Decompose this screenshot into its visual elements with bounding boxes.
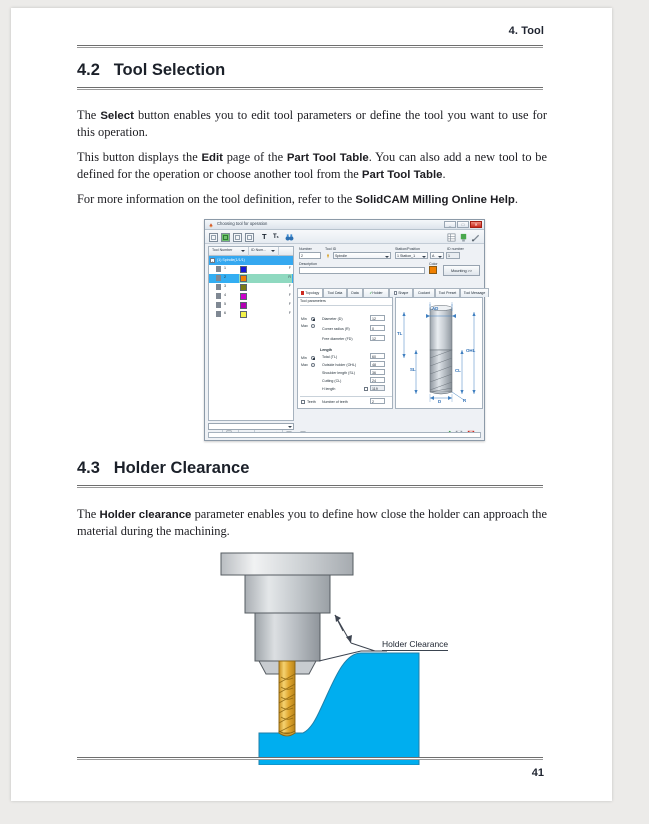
paragraph-4: The Holder clearance parameter enables y… — [77, 507, 547, 539]
row-flag: F — [289, 302, 291, 306]
length-input-h-length[interactable]: 119 — [370, 385, 385, 391]
tool-table-header: Tool Number ID Num... — [209, 247, 293, 256]
paragraph-3: For more information on the tool definit… — [77, 192, 547, 209]
dialog-status-bar — [208, 432, 481, 438]
tab-label: Topology — [305, 291, 319, 295]
application-icon — [208, 222, 214, 228]
text-tool-icon[interactable]: T — [262, 232, 267, 242]
station-value: 1 Station_1 — [397, 254, 415, 258]
tool-icon — [216, 284, 221, 290]
text-run: This button displays the — [77, 150, 201, 164]
param-input-free-diameter[interactable]: 12 — [370, 335, 385, 341]
tool-dimension-diagram: AD TL SL OHL CL D R — [395, 297, 483, 409]
table-row[interactable]: 5 F — [209, 301, 293, 310]
window-buttons: _ □ ✕ — [444, 221, 482, 228]
column-header-tool-number: Tool Number — [212, 248, 232, 252]
diagram-label-SL: SL — [410, 367, 416, 372]
tab-topology[interactable]: Topology — [297, 288, 323, 297]
teeth-input[interactable]: 2 — [370, 398, 385, 404]
row-color-swatch[interactable] — [240, 284, 247, 291]
grid-icon-2[interactable] — [233, 233, 242, 242]
label-tool-id: Tool ID — [325, 247, 336, 251]
tab-shape[interactable]: Shape — [389, 288, 413, 297]
diagram-label-D: D — [438, 399, 441, 404]
tool-id-select[interactable]: Spindle — [333, 252, 391, 259]
row-color-swatch[interactable] — [240, 266, 247, 273]
length-input-outside-holder[interactable]: 48 — [370, 361, 385, 367]
length-input-cutting[interactable]: 24 — [370, 377, 385, 383]
filter-arrow-icon-1[interactable] — [241, 250, 245, 252]
close-icon[interactable]: ✕ — [470, 221, 482, 228]
station-select[interactable]: 1 Station_1 — [395, 252, 428, 259]
tool-selection-dialog-screenshot: Choosing tool for operation _ □ ✕ T Ts — [204, 219, 485, 441]
row-color-swatch[interactable] — [240, 275, 247, 282]
text-run: The — [77, 507, 99, 521]
description-input[interactable] — [299, 267, 425, 274]
station-number-input[interactable]: 1 — [446, 252, 460, 259]
diagram-label-AD: AD — [432, 306, 438, 311]
length-group-title: Length — [320, 348, 332, 352]
tree-expander-icon[interactable]: - — [210, 258, 215, 263]
color-swatch-button[interactable] — [429, 266, 437, 274]
divider — [300, 396, 392, 397]
holder-clearance-figure: Holder Clearance — [211, 543, 481, 765]
row-tool-number: 5 — [224, 302, 226, 306]
tool-icon — [216, 266, 221, 272]
section-title-4-2: 4.2 Tool Selection — [77, 61, 547, 80]
table-row-selected[interactable]: 2 R — [209, 274, 293, 283]
station-sub-value: A — [432, 254, 434, 258]
length-input-total[interactable]: 60 — [370, 353, 385, 359]
min-radio[interactable] — [311, 317, 315, 321]
tab-tool-preset[interactable]: Tool Preset — [435, 288, 460, 297]
wrench-icon[interactable] — [471, 233, 480, 242]
text-bold-online-help: SolidCAM Milling Online Help — [355, 194, 514, 206]
chevron-down-icon[interactable] — [385, 256, 389, 258]
length-label-cutting: Cutting (CL) — [322, 379, 341, 383]
teeth-checkbox-label: Teeth — [307, 400, 316, 404]
grid-icon-1[interactable] — [209, 233, 218, 242]
document-page: 4. Tool 4.2 Tool Selection The Select bu… — [11, 8, 612, 801]
diagram-label-CL: CL — [455, 368, 461, 373]
dialog-title-bar: Choosing tool for operation _ □ ✕ — [205, 220, 484, 230]
row-flag: F — [289, 266, 291, 270]
teeth-label: Number of teeth — [322, 400, 348, 404]
grid-green-icon[interactable] — [221, 233, 230, 242]
tool-icon — [216, 311, 221, 317]
green-tool-icon[interactable] — [459, 233, 468, 242]
max-radio-2[interactable] — [311, 363, 315, 367]
tab-data[interactable]: Data — [347, 288, 363, 297]
max-label-2: Max — [301, 363, 308, 367]
row-tool-number: 1 — [224, 266, 226, 270]
length-label-shoulder: Shoulder length (SL) — [322, 371, 355, 375]
column-divider — [278, 247, 279, 256]
chevron-down-icon[interactable] — [438, 256, 442, 258]
number-input[interactable]: 2 — [299, 252, 321, 259]
table-row[interactable]: 1 F — [209, 265, 293, 274]
row-color-swatch[interactable] — [240, 293, 247, 300]
label-description: Description — [299, 262, 317, 266]
checkbox-icon[interactable] — [394, 291, 398, 295]
tab-holder[interactable]: ✓Holder — [363, 288, 389, 297]
row-tool-number: 3 — [224, 284, 226, 288]
text-run: . — [515, 192, 518, 206]
minimize-icon[interactable]: _ — [444, 221, 456, 228]
row-flag: F — [289, 284, 291, 288]
label-number: Number — [299, 247, 312, 251]
text-bold-holder-clearance: Holder clearance — [99, 509, 191, 521]
text-run: page of the — [223, 150, 287, 164]
length-label-total: Total (TL) — [322, 355, 337, 359]
section-rule — [77, 485, 543, 488]
tool-icon — [216, 275, 221, 281]
teeth-checkbox[interactable] — [301, 400, 305, 404]
min-label: Min — [301, 317, 307, 321]
paragraph-2: This button displays the Edit page of th… — [77, 150, 547, 183]
tool-id-value: Spindle — [335, 254, 347, 258]
param-input-diameter[interactable]: 12 — [370, 315, 385, 321]
chevron-down-icon[interactable] — [422, 256, 426, 258]
page-number: 41 — [532, 767, 544, 779]
row-flag: F — [289, 293, 291, 297]
tab-label: Shape — [398, 291, 408, 295]
running-header: 4. Tool — [509, 25, 544, 37]
text-bold-select: Select — [100, 110, 134, 122]
column-header-id-num: ID Num... — [251, 248, 266, 252]
length-label-h-length: H length — [322, 387, 335, 391]
filter-arrow-icon-2[interactable] — [271, 250, 275, 252]
spindle-icon — [325, 253, 331, 259]
max-radio[interactable] — [311, 324, 315, 328]
text-run: button enables you to edit tool paramete… — [77, 108, 547, 139]
param-label-diameter: Diameter (D) — [322, 317, 343, 321]
text-bold-edit: Edit — [201, 152, 223, 164]
tree-root-label: (1) Spindle(1/1/1) — [217, 258, 245, 262]
min-radio-2[interactable] — [311, 356, 315, 360]
diagram-label-OHL: OHL — [466, 348, 475, 353]
tool-icon — [216, 293, 221, 299]
parameters-group-title: Tool parameters — [300, 299, 326, 303]
column-divider — [248, 247, 249, 256]
diagram-label-R: R — [463, 398, 466, 403]
row-flag: F — [289, 311, 291, 315]
h-length-checkbox[interactable] — [364, 387, 368, 391]
tab-tool-message[interactable]: Tool Message — [460, 288, 489, 297]
diagram-label-TL: TL — [397, 331, 402, 336]
row-tool-number: 4 — [224, 293, 226, 297]
label-id-number: ID number — [447, 247, 464, 251]
endmill-diagram-svg — [396, 298, 484, 410]
dialog-title: Choosing tool for operation — [217, 221, 267, 226]
text-bold-part-tool-table-2: Part Tool Table — [362, 169, 443, 181]
param-label-free-diameter: Free diameter (FD) — [322, 337, 353, 341]
section-heading-4-3: 4.3 Holder Clearance — [77, 459, 547, 488]
length-input-shoulder[interactable]: 36 — [370, 369, 385, 375]
holder-clearance-annotation: Holder Clearance — [382, 639, 448, 651]
footer-rule — [77, 757, 543, 760]
maximize-icon[interactable]: □ — [457, 221, 469, 228]
holder-clearance-svg — [211, 543, 481, 765]
tool-table[interactable]: Tool Number ID Num... - (1) Spindle(1/1/… — [208, 246, 294, 421]
row-tool-number: 6 — [224, 311, 226, 315]
tab-bar: Topology Tool Data Data ✓Holder Shape Co… — [297, 288, 483, 297]
table-row[interactable]: 3 F — [209, 283, 293, 292]
row-tool-number: 2 — [224, 275, 226, 279]
row-color-swatch[interactable] — [240, 311, 247, 318]
length-label-outside-holder: Outside holder (OHL) — [322, 363, 356, 367]
row-color-swatch[interactable] — [240, 302, 247, 309]
text-small-tool-icon[interactable]: Ts — [273, 232, 279, 242]
binoculars-icon[interactable] — [285, 233, 294, 242]
param-label-corner-radius: Corner radius (R) — [322, 327, 350, 331]
table-icon[interactable] — [447, 233, 456, 242]
dialog-toolbar: T Ts — [205, 230, 484, 244]
tab-label: Holder — [372, 291, 382, 295]
table-row[interactable]: 4 F — [209, 292, 293, 301]
tab-tool-data[interactable]: Tool Data — [323, 288, 347, 297]
row-flag: R — [288, 275, 291, 279]
text-bold-part-tool-table: Part Tool Table — [287, 152, 369, 164]
section-heading-4-2: 4.2 Tool Selection — [77, 61, 547, 90]
tool-parameters-panel: Tool parameters Min Max Diameter (D) 12 … — [297, 297, 393, 409]
tab-coolant[interactable]: Coolant — [413, 288, 435, 297]
table-row[interactable]: 6 F — [209, 310, 293, 319]
section-rule — [77, 87, 543, 90]
param-input-corner-radius[interactable]: 0 — [370, 325, 385, 331]
red-square-icon — [301, 291, 305, 295]
section-title-4-3: 4.3 Holder Clearance — [77, 459, 547, 478]
header-rule — [77, 45, 543, 48]
tool-icon — [216, 302, 221, 308]
paragraph-1: The Select button enables you to edit to… — [77, 108, 547, 140]
text-run: The — [77, 108, 100, 122]
tool-table-tree-root[interactable]: - (1) Spindle(1/1/1) — [209, 256, 293, 265]
text-run: . — [442, 167, 445, 181]
divider — [300, 305, 392, 306]
text-run: For more information on the tool definit… — [77, 192, 355, 206]
grid-icon-3[interactable] — [245, 233, 254, 242]
max-label: Max — [301, 324, 308, 328]
mounting-button[interactable]: Mounting >> — [443, 265, 480, 276]
min-label-2: Min — [301, 356, 307, 360]
station-sub-select[interactable]: A — [430, 252, 444, 259]
label-station: Station/Position — [395, 247, 420, 251]
